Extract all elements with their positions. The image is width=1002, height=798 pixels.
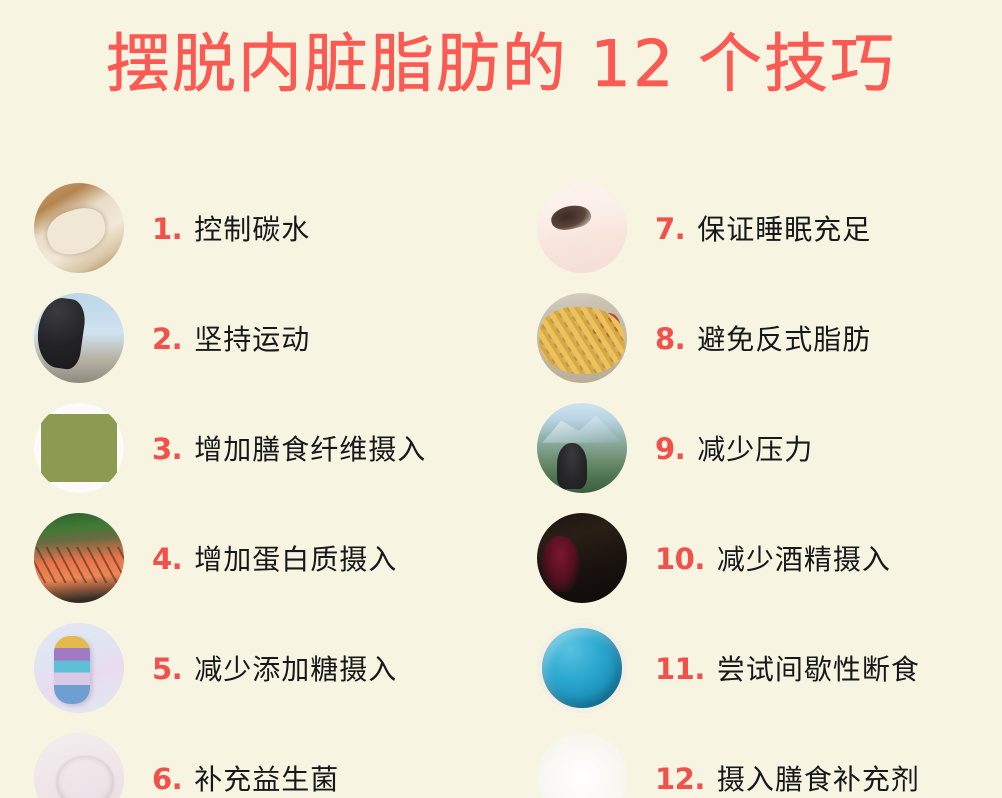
- tip-number: 12.: [655, 762, 705, 796]
- mountain-meditation-thumbnail: [537, 403, 627, 493]
- tip-text: 10. 减少酒精摄入: [655, 538, 891, 578]
- tip-number: 4.: [152, 542, 182, 576]
- bread-thumbnail: [34, 183, 124, 273]
- tip-text: 4. 增加蛋白质摄入: [152, 538, 397, 578]
- tip-text: 1. 控制碳水: [152, 208, 310, 248]
- list-item: 7. 保证睡眠充足: [537, 178, 1002, 278]
- tip-label: 摄入膳食补充剂: [717, 758, 920, 798]
- macarons-thumbnail: [34, 623, 124, 713]
- tip-text: 6. 补充益生菌: [152, 758, 339, 798]
- wine-thumbnail: [537, 513, 627, 603]
- tip-label: 减少压力: [697, 428, 813, 468]
- tip-number: 2.: [152, 322, 182, 356]
- tips-column-right: 7. 保证睡眠充足 8. 避免反式脂肪 9. 减少压: [501, 178, 1002, 798]
- list-item: 3. 增加膳食纤维摄入: [34, 398, 501, 498]
- tip-label: 控制碳水: [194, 208, 310, 248]
- pumpkin-seeds-thumbnail: [34, 403, 124, 493]
- tip-number: 7.: [655, 212, 685, 246]
- tip-label: 保证睡眠充足: [697, 208, 871, 248]
- tip-label: 避免反式脂肪: [697, 318, 871, 358]
- tip-text: 9. 减少压力: [655, 428, 813, 468]
- list-item: 10. 减少酒精摄入: [537, 508, 1002, 608]
- tip-number: 3.: [152, 432, 182, 466]
- tip-text: 3. 增加膳食纤维摄入: [152, 428, 426, 468]
- sleeping-person-thumbnail: [537, 183, 627, 273]
- tip-number: 9.: [655, 432, 685, 466]
- tip-number: 10.: [655, 542, 705, 576]
- tip-label: 尝试间歇性断食: [717, 648, 920, 688]
- tip-text: 7. 保证睡眠充足: [655, 208, 871, 248]
- tip-label: 补充益生菌: [194, 758, 339, 798]
- tip-text: 2. 坚持运动: [152, 318, 310, 358]
- tip-number: 6.: [152, 762, 182, 796]
- page-title: 摆脱内脏脂肪的 12 个技巧: [106, 33, 896, 97]
- exercise-thumbnail: [34, 293, 124, 383]
- title-container: 摆脱内脏脂肪的 12 个技巧: [0, 0, 1002, 130]
- tip-text: 8. 避免反式脂肪: [655, 318, 871, 358]
- tip-number: 5.: [152, 652, 182, 686]
- salmon-thumbnail: [34, 513, 124, 603]
- supplement-pills-thumbnail: [537, 733, 627, 798]
- tip-label: 减少添加糖摄入: [194, 648, 397, 688]
- tip-number: 11.: [655, 652, 705, 686]
- tip-number: 8.: [655, 322, 685, 356]
- list-item: 8. 避免反式脂肪: [537, 288, 1002, 388]
- tip-number: 1.: [152, 212, 182, 246]
- tips-columns: 1. 控制碳水 2. 坚持运动 3. 增加膳食纤维摄入: [0, 178, 1002, 798]
- tip-text: 12. 摄入膳食补充剂: [655, 758, 920, 798]
- tip-text: 11. 尝试间歇性断食: [655, 648, 920, 688]
- list-item: 1. 控制碳水: [34, 178, 501, 278]
- list-item: 11. 尝试间歇性断食: [537, 618, 1002, 718]
- tips-column-left: 1. 控制碳水 2. 坚持运动 3. 增加膳食纤维摄入: [0, 178, 501, 798]
- list-item: 6. 补充益生菌: [34, 728, 501, 798]
- list-item: 9. 减少压力: [537, 398, 1002, 498]
- tip-label: 增加膳食纤维摄入: [194, 428, 426, 468]
- french-fries-thumbnail: [537, 293, 627, 383]
- tip-label: 坚持运动: [194, 318, 310, 358]
- list-item: 2. 坚持运动: [34, 288, 501, 388]
- yogurt-bowl-thumbnail: [34, 733, 124, 798]
- infographic-poster: 摆脱内脏脂肪的 12 个技巧 1. 控制碳水 2. 坚持运动: [0, 0, 1002, 798]
- list-item: 12. 摄入膳食补充剂: [537, 728, 1002, 798]
- list-item: 4. 增加蛋白质摄入: [34, 508, 501, 608]
- blue-plate-thumbnail: [537, 623, 627, 713]
- list-item: 5. 减少添加糖摄入: [34, 618, 501, 718]
- tip-text: 5. 减少添加糖摄入: [152, 648, 397, 688]
- tip-label: 增加蛋白质摄入: [194, 538, 397, 578]
- tip-label: 减少酒精摄入: [717, 538, 891, 578]
